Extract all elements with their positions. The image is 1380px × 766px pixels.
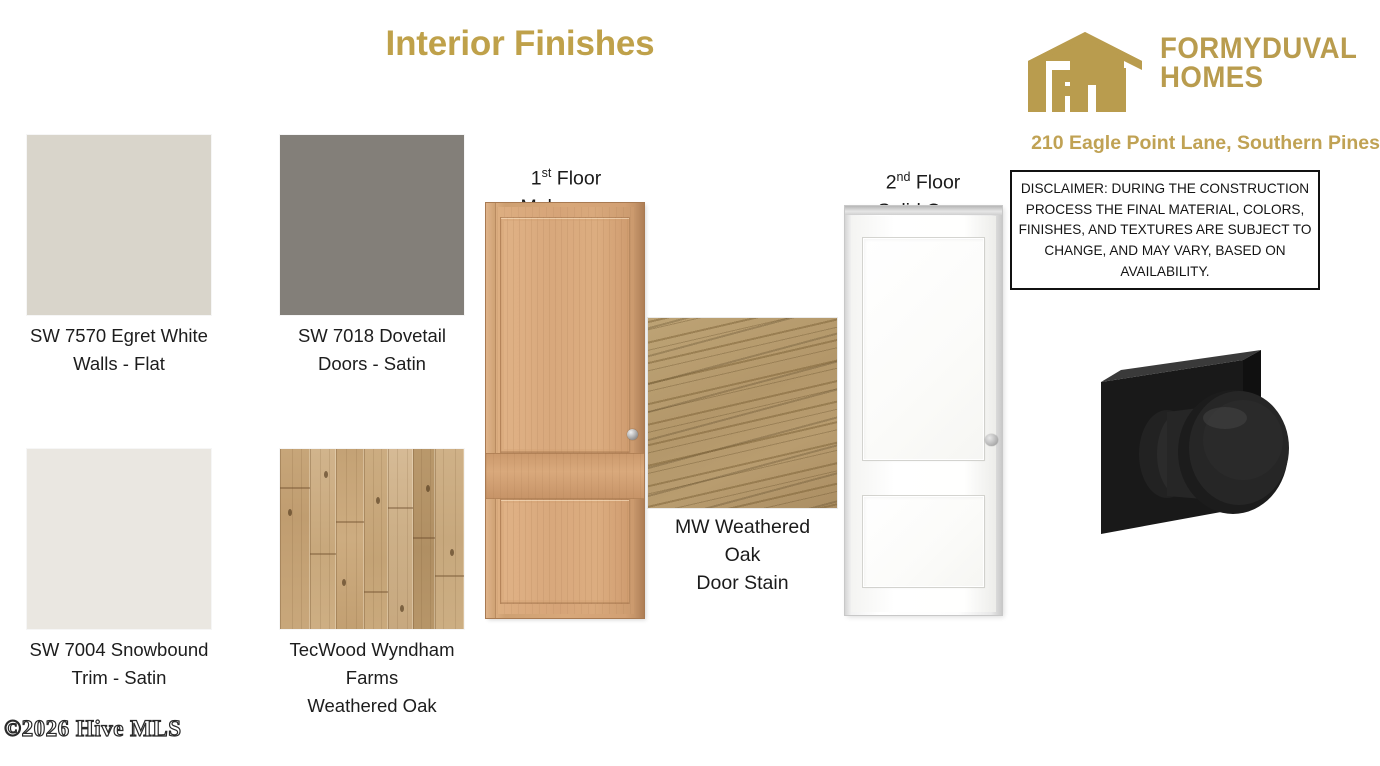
swatch-tecwood-flooring: TecWood Wyndham Farms Weathered Oak [280,449,464,720]
swatch-caption-dovetail: SW 7018 Dovetail Doors - Satin [280,322,464,378]
door-jamb-left [486,203,496,618]
mahogany-two-panel-door-image [486,203,644,618]
swatch-caption-egret-white: SW 7570 Egret White Walls - Flat [27,322,211,378]
paint-chip-egret-white [27,135,211,315]
mls-watermark: ©2026 Hive MLS [4,716,182,742]
house-fh-monogram-logo-icon [1026,30,1144,114]
door-knob-icon [985,434,998,446]
swatch-caption-snowbound: SW 7004 Snowbound Trim - Satin [27,636,211,692]
paint-chip-dovetail [280,135,464,315]
swatch-caption-line-2: Trim - Satin [27,664,211,692]
disclaimer-text: DISCLAIMER: DURING THE CONSTRUCTION PROC… [1010,179,1320,283]
swatch-dovetail: SW 7018 Dovetail Doors - Satin [280,135,464,378]
ordinal-rest: Floor [551,168,601,190]
swatch-caption-line-2: Doors - Satin [280,350,464,378]
property-address: 210 Eagle Point Lane, Southern Pines [930,132,1380,155]
paint-chip-snowbound [27,449,211,629]
swatch-caption-tecwood-flooring: TecWood Wyndham Farms Weathered Oak [280,636,464,720]
ordinal-suffix: nd [897,170,911,184]
ordinal-rest: Floor [910,172,960,194]
page-title: Interior Finishes [0,24,1040,64]
swatch-caption-line-1: SW 7570 Egret White [27,322,211,350]
door-panel-bottom [863,496,984,587]
stain-caption-line-3: Door Stain [640,569,845,597]
door-knob-icon [627,429,638,440]
stain-caption-line-1: MW Weathered [640,513,845,541]
swatch-caption-line-1: SW 7018 Dovetail [280,322,464,350]
brand-name-line-1: FORMYDUVAL [1160,32,1357,65]
stain-caption: MW Weathered Oak Door Stain [640,513,845,597]
stain-caption-line-2: Oak [640,541,845,569]
door-label-line-1: 1st Floor [477,159,655,193]
brand-name-line-2: HOMES [1160,63,1357,92]
swatch-caption-line-1: TecWood Wyndham Farms [280,636,464,692]
door-head-jamb [845,206,1002,215]
weathered-oak-stain-sample-image [648,318,837,508]
brand-wordmark: FORMYDUVAL HOMES [1160,34,1357,93]
ordinal-suffix: st [542,166,552,180]
swatch-caption-line-2: Weathered Oak [280,692,464,720]
ordinal-number: 2 [886,172,897,194]
flooring-sample-image [280,449,464,629]
ordinal-number: 1 [531,168,542,190]
white-two-panel-solid-core-door-image [845,206,1002,615]
interior-finishes-board: Interior Finishes FORMYDUVAL HOMES 210 E… [0,0,1380,766]
swatch-snowbound: SW 7004 Snowbound Trim - Satin [27,449,211,692]
brand-logo: FORMYDUVAL HOMES [1026,28,1366,118]
swatch-caption-line-1: SW 7004 Snowbound [27,636,211,664]
matte-black-round-knob-square-rosette-image [1093,348,1293,548]
door-label-line-1: 2nd Floor [836,163,1010,197]
door-middle-rail [486,453,644,499]
swatch-caption-line-2: Walls - Flat [27,350,211,378]
swatch-egret-white: SW 7570 Egret White Walls - Flat [27,135,211,378]
door-panel-bottom [500,499,630,604]
door-panel-top [863,238,984,460]
door-panel-top [500,217,630,453]
